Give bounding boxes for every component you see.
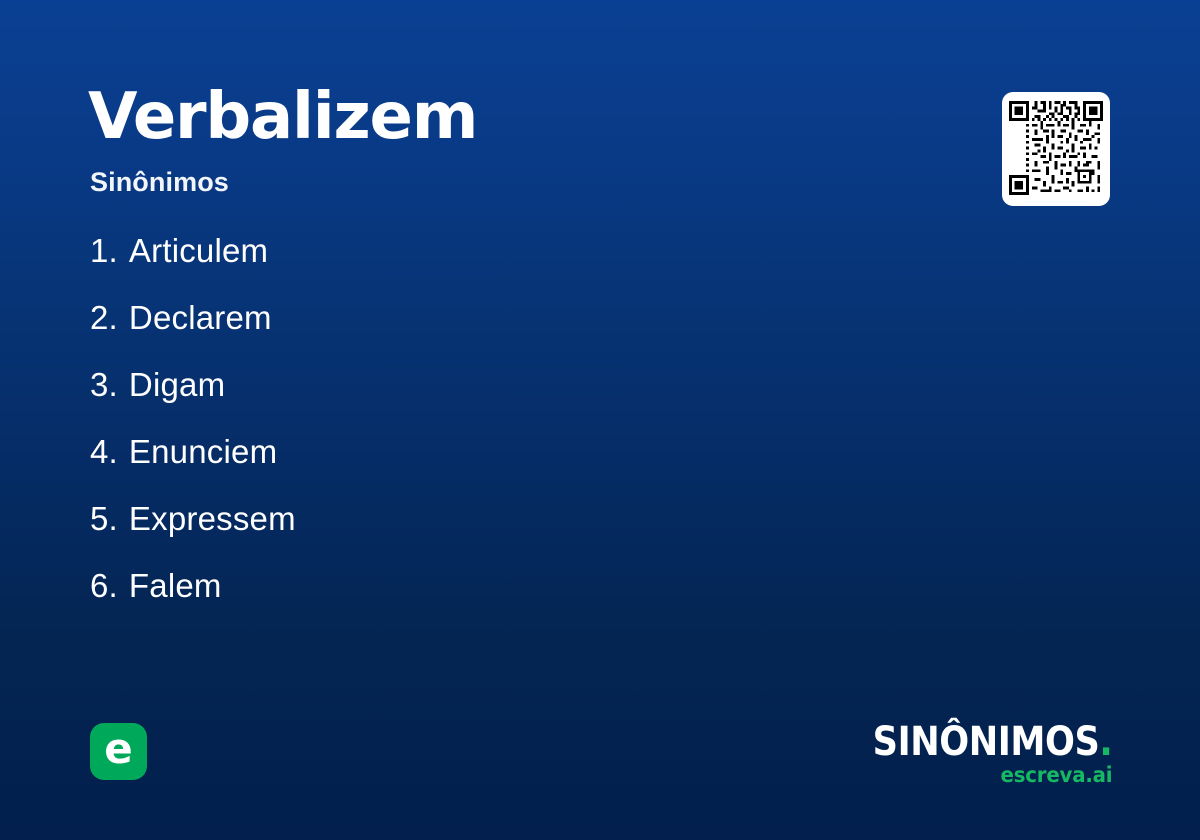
qr-code-icon	[1009, 101, 1103, 195]
list-item: 4. Enunciem	[90, 433, 790, 500]
list-item-label: Articulem	[129, 232, 268, 270]
list-item-label: Digam	[129, 366, 225, 404]
list-item-index: 5.	[90, 500, 118, 538]
brand-name: SINÔNIMOS.	[872, 722, 1112, 762]
list-item: 5. Expressem	[90, 500, 790, 567]
list-item: 2. Declarem	[90, 299, 790, 366]
list-item-label: Falem	[129, 567, 222, 605]
list-item-index: 4.	[90, 433, 118, 471]
list-item-label: Enunciem	[129, 433, 277, 471]
page-title: Verbalizem	[88, 84, 477, 151]
category-label: Sinônimos	[90, 166, 229, 198]
list-item-index: 3.	[90, 366, 118, 404]
list-item-index: 6.	[90, 567, 118, 605]
list-item-index: 1.	[90, 232, 118, 270]
list-item-label: Expressem	[129, 500, 296, 538]
list-item: 6. Falem	[90, 567, 790, 634]
synonym-card: Verbalizem Sinônimos 1. Articulem 2. Dec…	[0, 0, 1200, 840]
synonym-list: 1. Articulem 2. Declarem 3. Digam 4. Enu…	[90, 232, 790, 634]
list-item: 1. Articulem	[90, 232, 790, 299]
list-item-index: 2.	[90, 299, 118, 337]
brand-lockup: SINÔNIMOS. escreva.ai	[840, 722, 1112, 786]
escreva-logo[interactable]: e	[90, 723, 147, 780]
list-item: 3. Digam	[90, 366, 790, 433]
escreva-logo-letter: e	[104, 728, 133, 770]
qr-code[interactable]	[1002, 92, 1110, 206]
list-item-label: Declarem	[129, 299, 272, 337]
brand-dot: .	[1099, 719, 1112, 765]
brand-subtitle: escreva.ai	[856, 765, 1112, 786]
